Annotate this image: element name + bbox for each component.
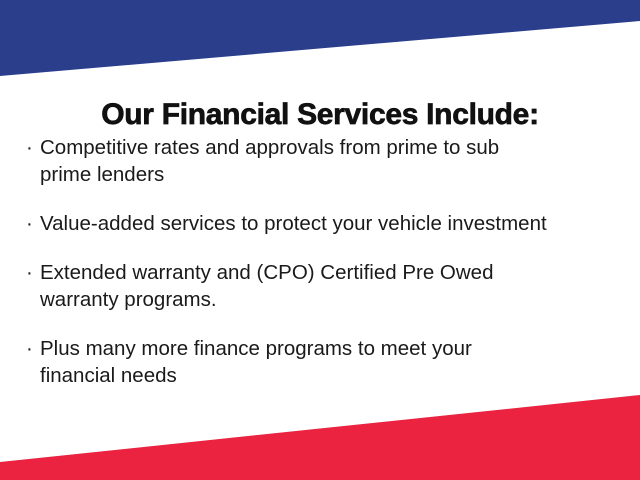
bullet-point-icon: · — [26, 259, 38, 286]
list-item: · Plus many more finance programs to mee… — [24, 335, 620, 389]
list-item-text: Competitive rates and approvals from pri… — [40, 134, 620, 188]
list-item-text: Value-added services to protect your veh… — [40, 210, 620, 237]
blue-angled-banner — [0, 0, 640, 76]
list-item: · Extended warranty and (CPO) Certified … — [24, 259, 620, 313]
slide-canvas: Our Financial Services Include: · Compet… — [0, 0, 640, 480]
financial-services-list: · Competitive rates and approvals from p… — [24, 134, 620, 389]
red-angled-banner — [0, 395, 640, 480]
list-item: · Value-added services to protect your v… — [24, 210, 620, 237]
bullet-point-icon: · — [26, 210, 38, 237]
list-item-text: Extended warranty and (CPO) Certified Pr… — [40, 259, 620, 313]
list-item-text: Plus many more finance programs to meet … — [40, 335, 620, 389]
page-title: Our Financial Services Include: — [0, 98, 640, 132]
bullet-point-icon: · — [26, 335, 38, 362]
list-item: · Competitive rates and approvals from p… — [24, 134, 620, 188]
bullet-point-icon: · — [26, 134, 38, 161]
